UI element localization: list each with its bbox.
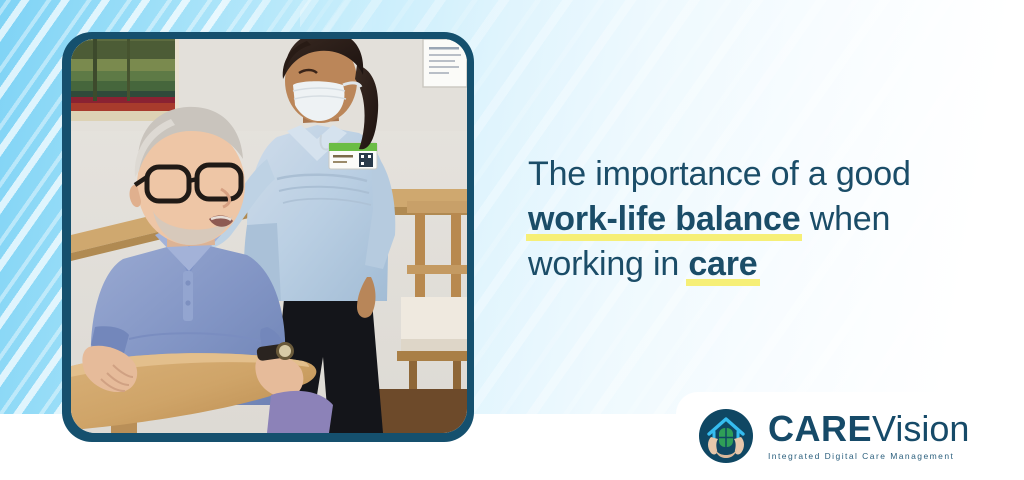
care-photo-illustration <box>71 39 467 433</box>
headline-line-1: The importance of a good <box>528 152 998 197</box>
logo-wordmark: CAREVision <box>768 411 969 447</box>
promotional-banner: The importance of a good work-life balan… <box>0 0 1024 480</box>
staff-name-badge <box>329 143 377 169</box>
headline-line-3-pre: working in <box>528 245 688 283</box>
logo-panel[interactable]: CAREVision Integrated Digital Care Manag… <box>676 392 1024 480</box>
headline-highlight-care: care <box>688 242 757 287</box>
logo-tagline: Integrated Digital Care Management <box>768 451 969 461</box>
carevision-logo-icon <box>698 408 754 464</box>
photo-card <box>62 32 474 442</box>
care-photo <box>71 39 467 433</box>
headline-line-2: work-life balance when <box>528 197 998 242</box>
headline-line-2-rest: when <box>800 200 890 238</box>
logo-text: CAREVision Integrated Digital Care Manag… <box>768 411 969 461</box>
logo-care: CARE <box>768 408 872 449</box>
wall-artwork <box>71 39 179 121</box>
logo-vision: Vision <box>872 408 969 449</box>
wall-notice <box>423 39 467 87</box>
headline-line-3: working in care <box>528 242 998 287</box>
headline-highlight-work-life-balance: work-life balance <box>528 197 800 242</box>
headline: The importance of a good work-life balan… <box>528 152 998 287</box>
